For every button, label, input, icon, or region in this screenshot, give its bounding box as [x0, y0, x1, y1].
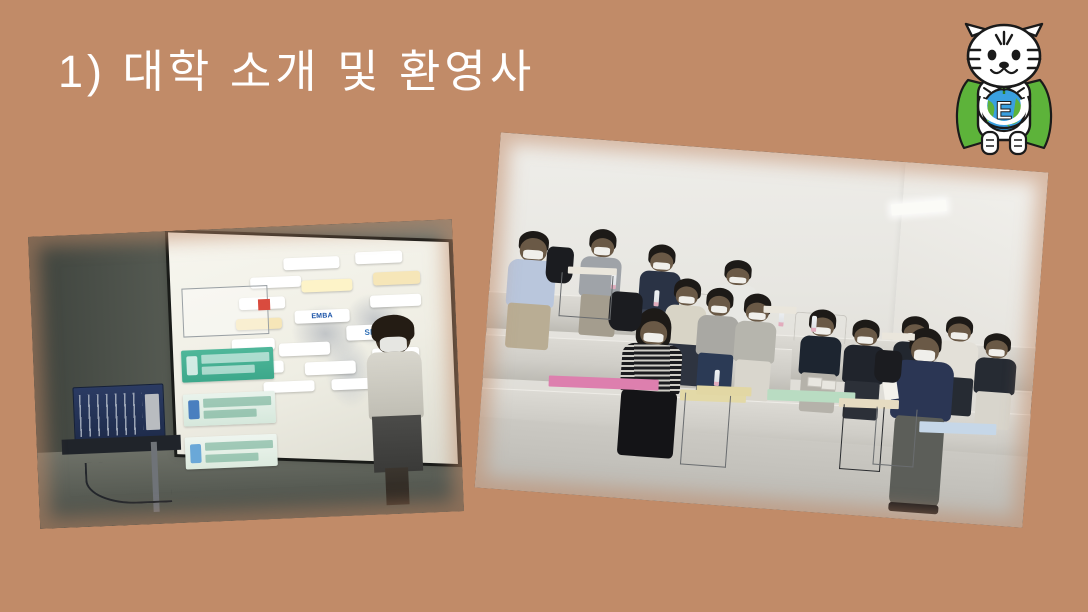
info-line — [204, 408, 257, 419]
tray-table-leg — [680, 392, 731, 467]
tray-table — [882, 332, 915, 340]
info-icon — [186, 356, 198, 376]
presenter-figure — [358, 317, 434, 507]
tray-table-leg — [873, 406, 918, 467]
info-line — [203, 396, 271, 407]
slide-info-box — [185, 434, 277, 470]
face-mask — [523, 249, 543, 260]
info-icon — [190, 444, 202, 464]
skirt — [617, 389, 677, 459]
presenter-blouse — [367, 351, 424, 420]
tray-table — [763, 306, 796, 314]
info-icon — [188, 400, 200, 420]
face-mask — [857, 336, 874, 344]
partner-logo-chip — [373, 270, 420, 285]
partner-logo-chip — [355, 251, 402, 265]
presenter-legs — [385, 467, 410, 505]
rack-control-panel — [145, 394, 160, 431]
info-line — [202, 353, 270, 364]
slide-headline-box — [181, 285, 270, 337]
trousers — [505, 302, 551, 350]
person-seated — [969, 331, 1020, 430]
presenter-skirt — [372, 414, 423, 472]
partner-logo-chip — [302, 279, 353, 293]
face-mask — [644, 333, 664, 343]
wall-outlet — [820, 379, 836, 390]
info-line — [202, 365, 255, 376]
info-line — [206, 452, 259, 463]
slide-info-box — [183, 390, 275, 426]
partner-logo-emba: EMBA — [294, 308, 350, 323]
tshirt — [798, 335, 842, 377]
partner-logo-chip — [370, 294, 421, 308]
page-title: 1) 대학 소개 및 환영사 — [58, 46, 535, 98]
auditorium-audience-photo — [475, 132, 1049, 527]
tray-table-leg — [559, 273, 613, 320]
partner-logo-chip — [279, 341, 330, 356]
lecture-room-presentation-photo: EMBA SDUT — [28, 219, 464, 528]
rack-slots — [79, 392, 143, 437]
presentation-slide: 1) 대학 소개 및 환영사 E — [0, 0, 1088, 612]
tshirt — [973, 356, 1017, 395]
backpack — [607, 290, 643, 331]
face-mask — [988, 349, 1005, 357]
shirt — [733, 320, 777, 363]
face-mask — [729, 276, 746, 284]
info-line — [205, 440, 273, 451]
headline-accent — [258, 299, 270, 310]
backpack — [873, 349, 903, 383]
face-mask — [379, 336, 407, 352]
white-tiger-mascot-logo: E — [944, 22, 1064, 168]
partner-logo-chip — [305, 361, 356, 376]
partner-logo-chip — [284, 256, 340, 270]
slide-info-box — [181, 347, 273, 383]
